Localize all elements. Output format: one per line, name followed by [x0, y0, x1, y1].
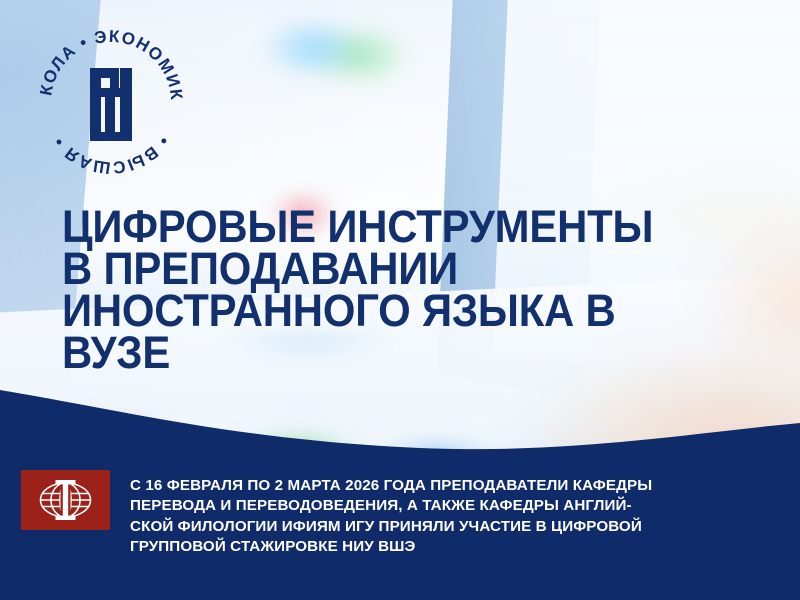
- page-title: ЦИФРОВЫЕ ИНСТРУМЕНТЫ В ПРЕПОДАВАНИИ ИНОС…: [62, 206, 713, 374]
- footer-caption: С 16 ФЕВРАЛЯ ПО 2 МАРТА 2026 ГОДА ПРЕПОД…: [130, 476, 782, 558]
- hse-logo: ШКОЛА • ЭКОНОМИКИ • ВЫСШАЯ •: [33, 24, 189, 180]
- igu-ifiyam-emblem: [21, 470, 110, 530]
- hse-logo-monogram: [90, 68, 132, 141]
- poster-card: ШКОЛА • ЭКОНОМИКИ • ВЫСШАЯ •: [0, 0, 800, 600]
